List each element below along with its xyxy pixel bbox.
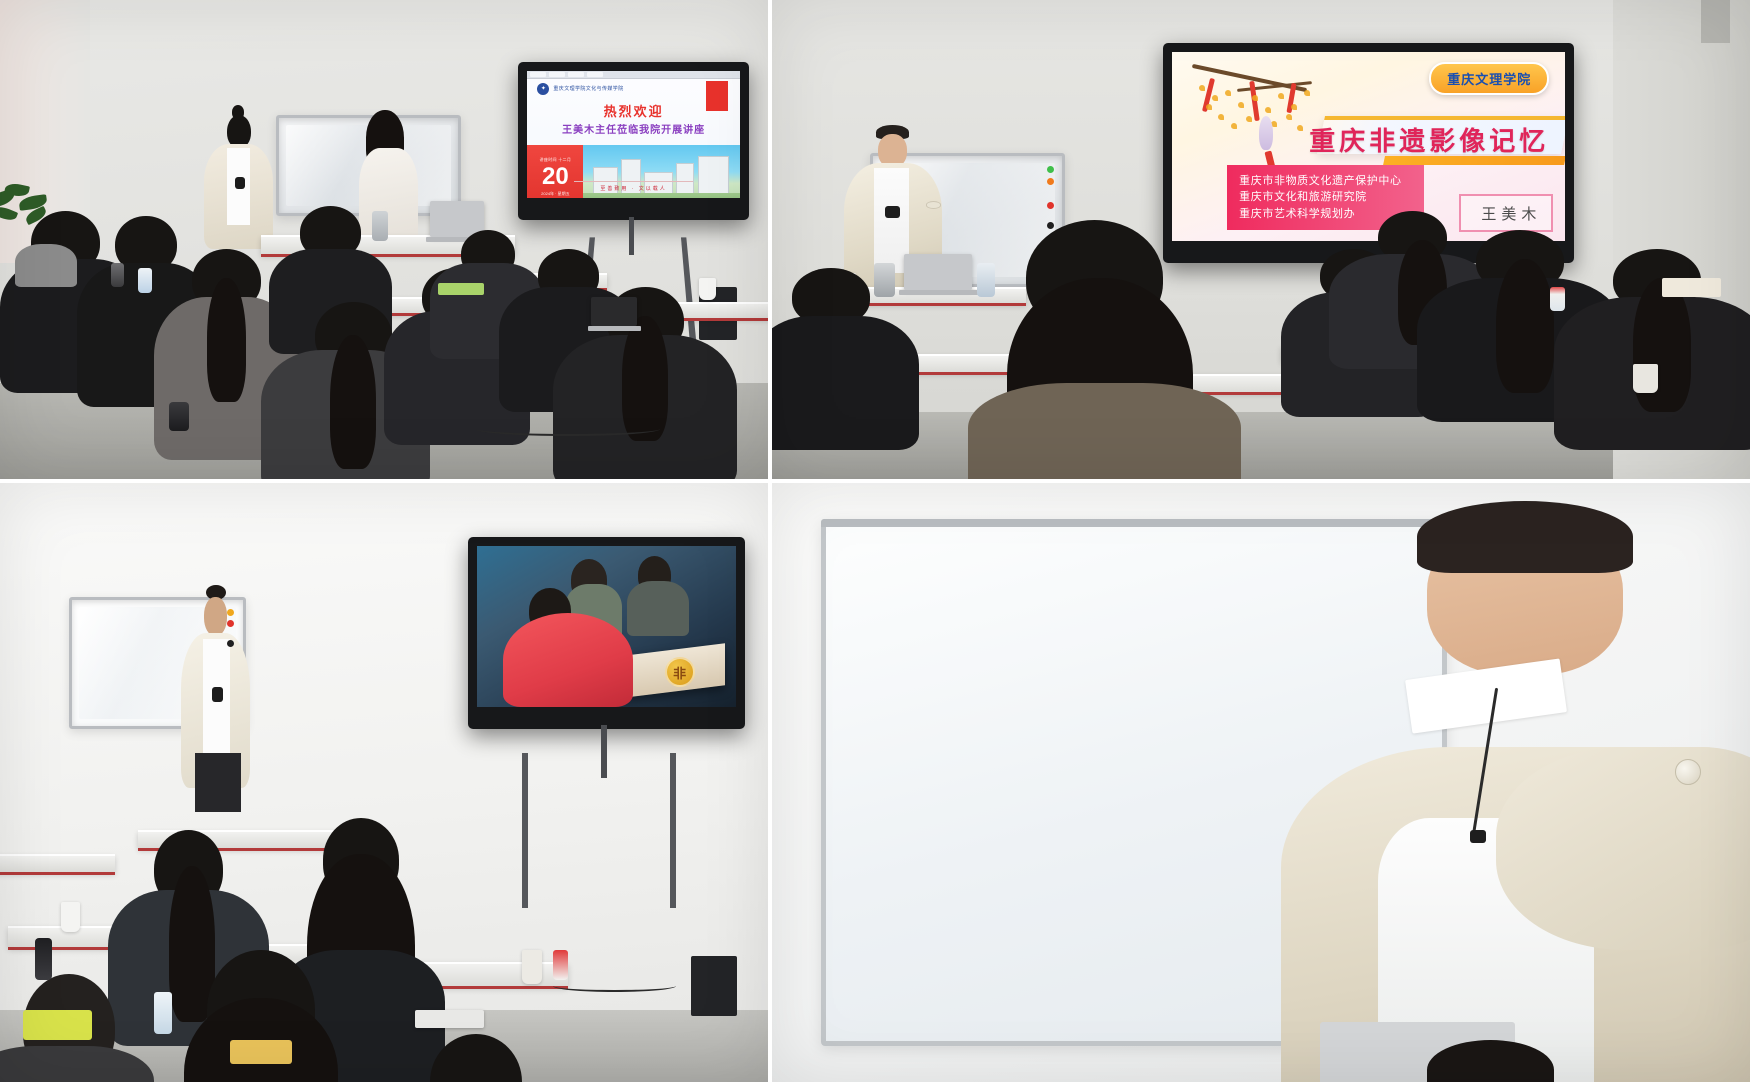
browser-tab[interactable] bbox=[587, 72, 603, 77]
slide-main-title: 重庆非遗影像记忆 bbox=[1309, 121, 1549, 158]
floor-cable bbox=[476, 422, 660, 436]
host-trousers bbox=[195, 753, 241, 813]
welcome-subtitle: 王美木主任莅临我院开展讲座 bbox=[527, 121, 739, 136]
speaker-hair bbox=[1417, 501, 1632, 573]
browser-tab-strip[interactable] bbox=[527, 71, 739, 79]
thermos-bottle bbox=[874, 263, 896, 297]
date-month: 讲座时间 十二月 bbox=[540, 157, 572, 163]
welcome-slide-body: ✦ 重庆文理学院文化与传媒学院 热烈欢迎 王美木主任莅临我院开展讲座 讲座时间 … bbox=[527, 71, 739, 198]
panel-2-lecture-title-slide: 重庆文理学院 重庆非遗影像记忆 重庆市非物质文化遗产保护中心 重庆市文化和旅游研… bbox=[772, 0, 1750, 483]
classroom-scene-2: 重庆文理学院 重庆非遗影像记忆 重庆市非物质文化遗产保护中心 重庆市文化和旅游研… bbox=[772, 0, 1750, 479]
panel-4-speaker-portrait bbox=[772, 483, 1750, 1082]
slide-speaker-name: 王美木 bbox=[1481, 203, 1541, 224]
water-bottle-red bbox=[1550, 287, 1566, 311]
video-craftsperson bbox=[627, 581, 689, 636]
thermos bbox=[35, 938, 52, 980]
green-item bbox=[438, 283, 484, 295]
slide-footer-motto: 至善致用 · 文以载人 bbox=[527, 185, 739, 192]
water-bottle bbox=[154, 992, 172, 1034]
host-head bbox=[204, 597, 227, 637]
water-bottle bbox=[138, 268, 152, 293]
classroom-scene-1: ✦ 重庆文理学院文化与传媒学院 热烈欢迎 王美木主任莅临我院开展讲座 讲座时间 … bbox=[0, 0, 768, 479]
keyboard[interactable] bbox=[415, 1010, 484, 1028]
documentary-video: 非 bbox=[477, 546, 735, 707]
video-watermark-icon: 非 bbox=[665, 657, 695, 687]
panel-1-welcome-introduction: ✦ 重庆文理学院文化与传媒学院 热烈欢迎 王美木主任莅临我院开展讲座 讲座时间 … bbox=[0, 0, 772, 483]
lanyard-mic bbox=[885, 206, 900, 218]
laptop-student bbox=[591, 297, 637, 326]
lapel-mic-icon bbox=[1470, 830, 1486, 843]
organization-line-2: 重庆市文化和旅游研究院 bbox=[1239, 189, 1411, 206]
slide-welcome: ✦ 重庆文理学院文化与传媒学院 热烈欢迎 王美木主任莅临我院开展讲座 讲座时间 … bbox=[527, 71, 739, 198]
speaker-box bbox=[691, 956, 737, 1016]
laptop-presenter[interactable] bbox=[904, 254, 972, 290]
orange-item bbox=[230, 1040, 291, 1064]
thermos-white bbox=[977, 263, 995, 297]
speaker-gesturing-arm bbox=[1496, 747, 1750, 951]
paper-stack bbox=[1662, 278, 1721, 297]
slide-title: 重庆文理学院 重庆非遗影像记忆 重庆市非物质文化遗产保护中心 重庆市文化和旅游研… bbox=[1172, 52, 1565, 241]
water-bottle-red bbox=[553, 950, 568, 980]
display-panel-3[interactable]: 非 bbox=[468, 537, 744, 729]
sleeve-badge bbox=[926, 201, 942, 209]
thermos-front bbox=[169, 402, 189, 431]
slide-divider bbox=[574, 181, 693, 182]
side-desk bbox=[0, 854, 115, 872]
paper-cup-2 bbox=[522, 950, 542, 984]
display-panel-1[interactable]: ✦ 重庆文理学院文化与传媒学院 热烈欢迎 王美木主任莅临我院开展讲座 讲座时间 … bbox=[518, 62, 748, 220]
paper-cup bbox=[61, 902, 79, 932]
travel-mug bbox=[1633, 364, 1658, 393]
paper-cup bbox=[699, 278, 716, 300]
yellow-bag bbox=[23, 1010, 92, 1040]
browser-tab[interactable] bbox=[568, 72, 584, 77]
figure-illustration bbox=[1259, 116, 1273, 150]
institution-badge: 重庆文理学院 bbox=[1429, 62, 1549, 95]
panel-3-video-playback: 非 bbox=[0, 483, 772, 1082]
wall-vent bbox=[1701, 0, 1730, 43]
university-header-text: 重庆文理学院文化与传媒学院 bbox=[553, 85, 623, 92]
video-red-garment bbox=[503, 613, 632, 706]
portrait-scene bbox=[772, 483, 1750, 1082]
photo-collage: ✦ 重庆文理学院文化与传媒学院 热烈欢迎 王美木主任莅临我院开展讲座 讲座时间 … bbox=[0, 0, 1750, 1082]
sleeve-badge-icon bbox=[1675, 759, 1701, 785]
thermos bbox=[111, 263, 123, 287]
welcome-heading: 热烈欢迎 bbox=[527, 101, 739, 120]
browser-tab[interactable] bbox=[530, 72, 546, 77]
lanyard-mic bbox=[212, 687, 224, 703]
browser-tab[interactable] bbox=[549, 72, 565, 77]
classroom-scene-3: 非 bbox=[0, 483, 768, 1082]
video-frame: 非 bbox=[477, 546, 735, 707]
title-slide-body: 重庆文理学院 重庆非遗影像记忆 重庆市非物质文化遗产保护中心 重庆市文化和旅游研… bbox=[1172, 52, 1565, 241]
university-logo-icon: ✦ bbox=[537, 83, 549, 95]
display-stand-legs bbox=[522, 753, 676, 909]
organization-line-1: 重庆市非物质文化遗产保护中心 bbox=[1239, 173, 1411, 190]
thermos-bottle bbox=[372, 211, 387, 242]
